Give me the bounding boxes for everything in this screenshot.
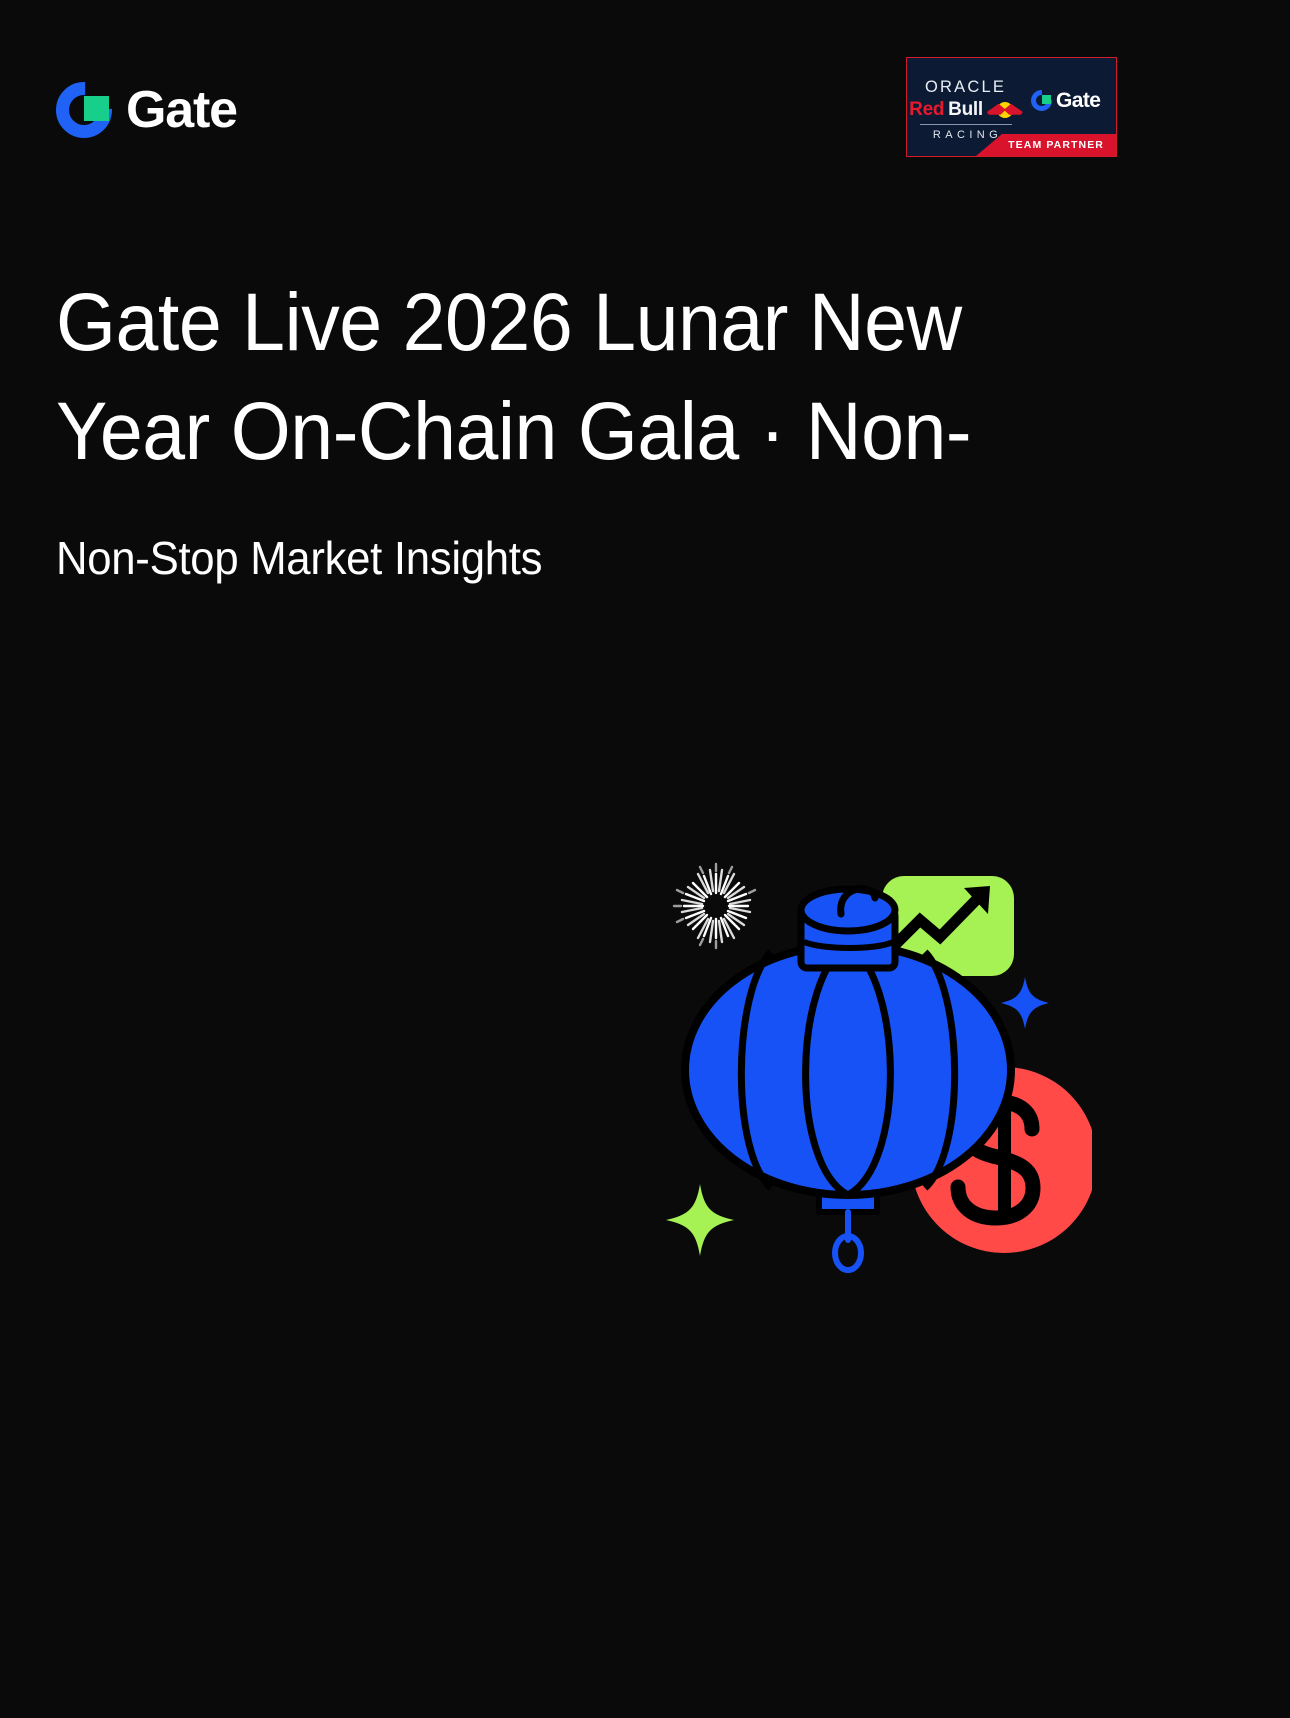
partner-gate-logo: Gate (1031, 90, 1100, 111)
red-word: Red (909, 100, 944, 119)
racing-wordmark: RACING (929, 129, 1002, 141)
page-subtitle: Non-Stop Market Insights (56, 530, 1006, 588)
gate-logo-square (84, 96, 109, 121)
gate-logo-icon (56, 82, 112, 138)
gate-logo-square-small (1042, 95, 1051, 104)
gate-brand-wordmark: Gate (126, 84, 237, 136)
gate-logo-icon-small (1031, 90, 1052, 111)
badge-divider-rule (920, 124, 1012, 125)
four-point-star-icon-blue (1001, 977, 1049, 1029)
page-header: Gate ORACLE Red Bull RACING Gate (0, 0, 1290, 190)
hero-section: Gate Live 2026 Lunar New Year On-Chain G… (56, 268, 1056, 588)
bull-word: Bull (948, 100, 983, 119)
page-title: Gate Live 2026 Lunar New Year On-Chain G… (56, 268, 996, 486)
firework-sparkle-icon (674, 864, 755, 948)
oracle-wordmark: ORACLE (925, 79, 1006, 96)
four-point-star-icon-green (666, 1184, 734, 1256)
partner-gate-wordmark: Gate (1056, 90, 1100, 111)
team-partner-label: TEAM PARTNER (1008, 139, 1104, 151)
oracle-red-bull-racing-team-partner-badge: ORACLE Red Bull RACING Gate TEAM PARTNER (906, 57, 1117, 157)
lunar-new-year-lantern-illustration (648, 826, 1092, 1314)
gate-brand-logo[interactable]: Gate (56, 82, 237, 138)
red-bull-wordmark: Red Bull (909, 100, 1022, 119)
red-bull-bulls-icon (988, 101, 1022, 118)
